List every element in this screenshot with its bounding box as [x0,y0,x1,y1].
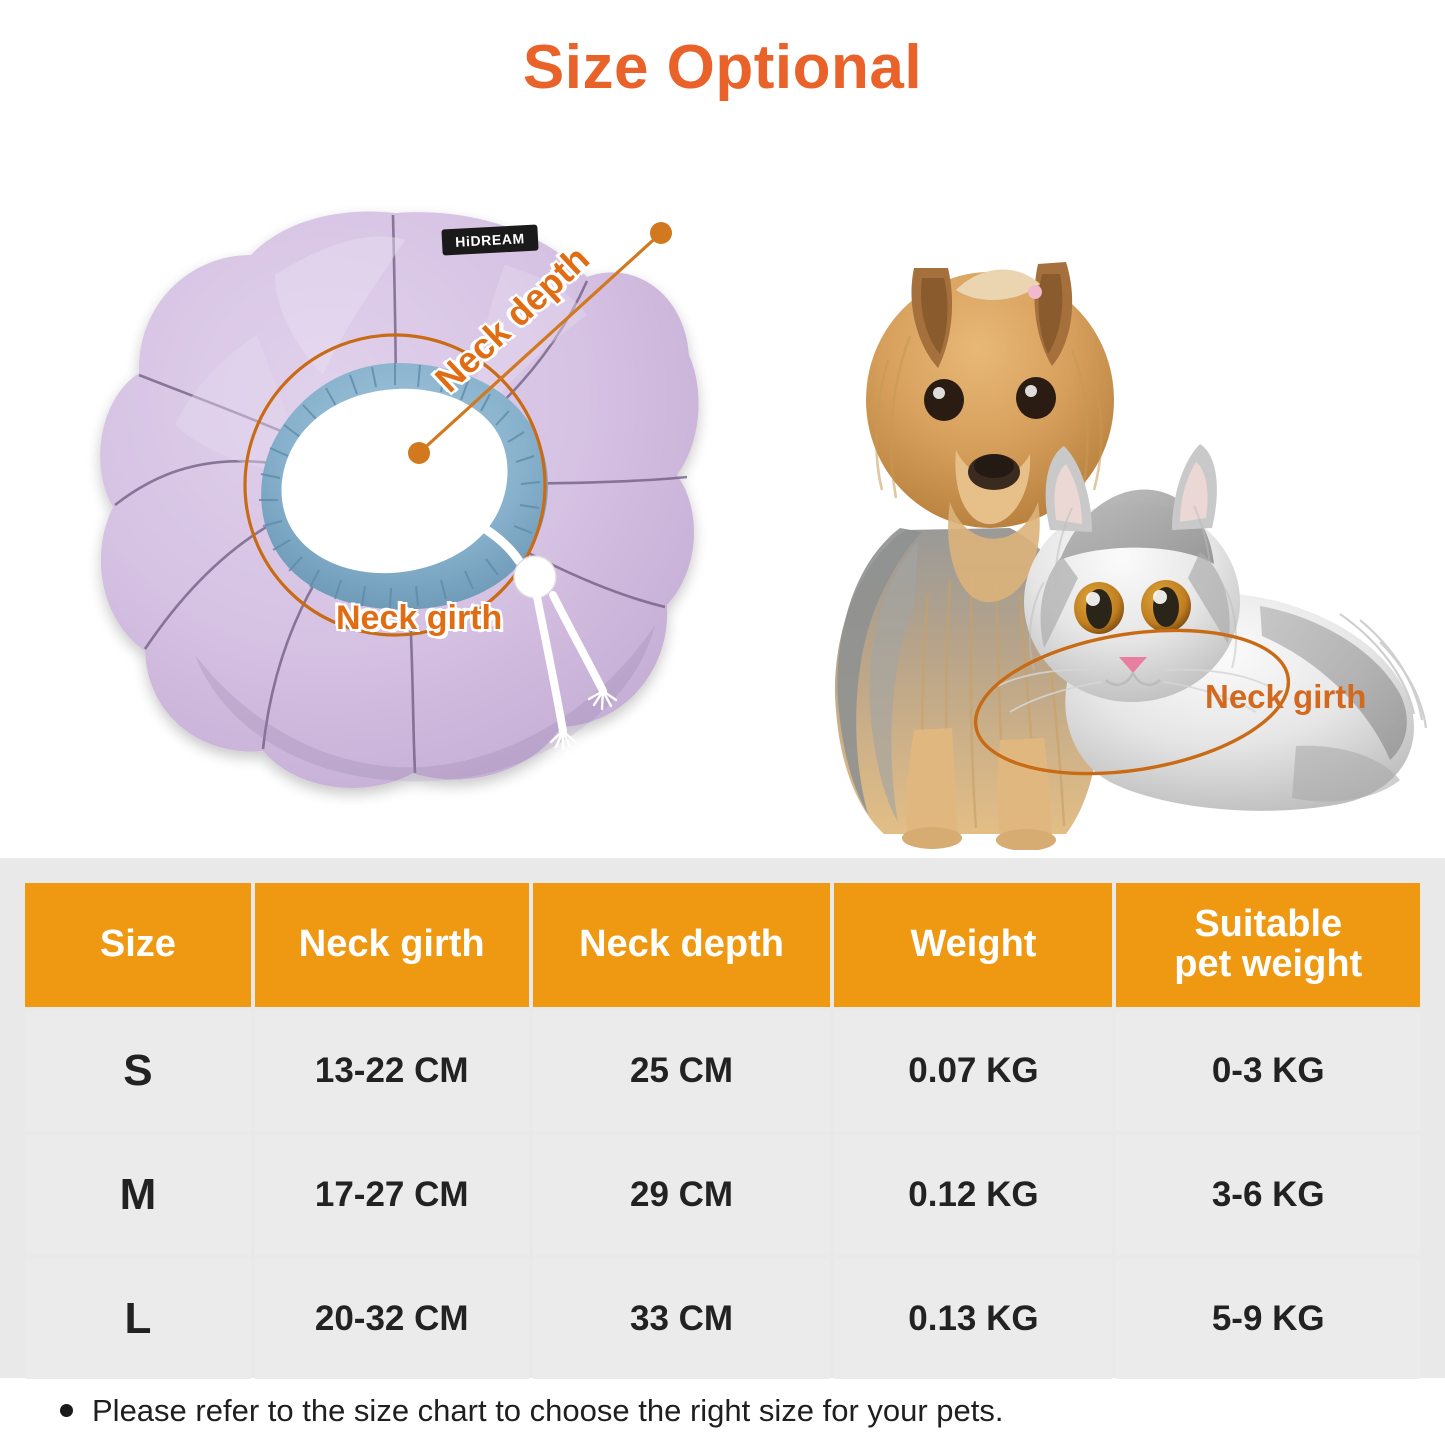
footnote-text: Please refer to the size chart to choose… [92,1392,1004,1429]
cell-neck-girth-s: 13-22 CM [255,1011,529,1131]
cell-neck-depth-l: 33 CM [533,1259,831,1379]
pets-illustration: Neck girth [700,150,1445,850]
page-title: Size Optional [0,34,1445,102]
cell-neck-girth-m: 17-27 CM [255,1135,529,1255]
cell-weight-m: 0.12 KG [834,1135,1112,1255]
hero-section: HiDREAM Neck depth Neck girth [0,150,1445,850]
cell-neck-depth-m: 29 CM [533,1135,831,1255]
column-header-size: Size [25,883,251,1007]
column-header-neck-depth: Neck depth [533,883,831,1007]
cell-pet-weight-l: 5-9 KG [1116,1259,1420,1379]
pets-graphic-icon [700,150,1445,850]
table-header-row: Size Neck girth Neck depth Weight Suitab… [25,883,1420,1007]
collar-product-illustration: HiDREAM Neck depth Neck girth [75,185,715,805]
column-header-weight-line1: Weight [838,925,1108,965]
column-header-neck-depth-line1: Neck depth [537,925,827,965]
neck-girth-label-cat: Neck girth [1205,678,1366,716]
cell-pet-weight-s: 0-3 KG [1116,1011,1420,1131]
column-header-suitable-line2: pet weight [1120,945,1416,985]
size-chart-band: Size Neck girth Neck depth Weight Suitab… [0,858,1445,1378]
cell-size-m: M [25,1135,251,1255]
cell-neck-girth-l: 20-32 CM [255,1259,529,1379]
column-header-suitable-line1: Suitable [1120,905,1416,945]
cell-neck-depth-s: 25 CM [533,1011,831,1131]
column-header-neck-girth-line1: Neck girth [259,925,525,965]
cell-size-l: L [25,1259,251,1379]
bullet-icon [60,1404,73,1417]
column-header-size-line1: Size [29,925,247,965]
neck-girth-label-collar: Neck girth [336,599,502,638]
table-row: S 13-22 CM 25 CM 0.07 KG 0-3 KG [25,1011,1420,1131]
table-row: L 20-32 CM 33 CM 0.13 KG 5-9 KG [25,1259,1420,1379]
brand-tag: HiDREAM [441,225,538,256]
cell-weight-l: 0.13 KG [834,1259,1112,1379]
column-header-neck-girth: Neck girth [255,883,529,1007]
cell-weight-s: 0.07 KG [834,1011,1112,1131]
cell-pet-weight-m: 3-6 KG [1116,1135,1420,1255]
column-header-weight: Weight [834,883,1112,1007]
footnote: Please refer to the size chart to choose… [60,1392,1400,1429]
column-header-suitable-pet-weight: Suitable pet weight [1116,883,1420,1007]
table-row: M 17-27 CM 29 CM 0.12 KG 3-6 KG [25,1135,1420,1255]
size-chart-table: Size Neck girth Neck depth Weight Suitab… [21,879,1424,1383]
cell-size-s: S [25,1011,251,1131]
collar-graphic-icon [75,185,715,805]
